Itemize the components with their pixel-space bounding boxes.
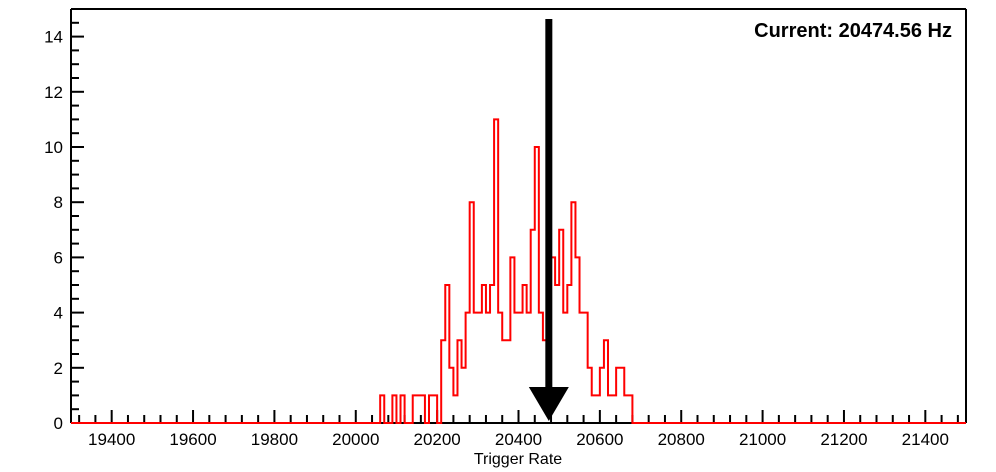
- y-tick-label: 6: [54, 248, 63, 267]
- x-tick-label: 21000: [739, 430, 786, 449]
- y-tick-label: 0: [54, 414, 63, 433]
- y-tick-label: 10: [44, 138, 63, 157]
- x-tick-label: 20400: [495, 430, 542, 449]
- y-tick-label: 12: [44, 83, 63, 102]
- x-tick-label: 20600: [576, 430, 623, 449]
- y-tick-label: 4: [54, 304, 63, 323]
- histogram-outline: [71, 119, 966, 423]
- x-tick-label: 19400: [88, 430, 135, 449]
- x-tick-label: 20800: [658, 430, 705, 449]
- y-tick-label: 14: [44, 28, 63, 47]
- histogram-series: [71, 119, 966, 423]
- x-axis: 1940019600198002000020200204002060020800…: [79, 410, 958, 449]
- x-tick-label: 21200: [820, 430, 867, 449]
- x-tick-label: 20000: [332, 430, 379, 449]
- x-tick-label: 20200: [413, 430, 460, 449]
- x-tick-label: 19800: [251, 430, 298, 449]
- current-rate-label: Current: 20474.56 Hz: [754, 20, 952, 42]
- y-tick-label: 8: [54, 193, 63, 212]
- plot-canvas: 02468101214 1940019600198002000020200204…: [0, 0, 996, 472]
- y-axis: 02468101214: [44, 9, 84, 433]
- x-tick-label: 21400: [902, 430, 949, 449]
- x-tick-label: 19600: [169, 430, 216, 449]
- trigger-rate-histogram-page: 02468101214 1940019600198002000020200204…: [0, 0, 996, 472]
- x-axis-title: Trigger Rate: [474, 451, 562, 468]
- y-tick-label: 2: [54, 359, 63, 378]
- plot-frame: [71, 9, 966, 423]
